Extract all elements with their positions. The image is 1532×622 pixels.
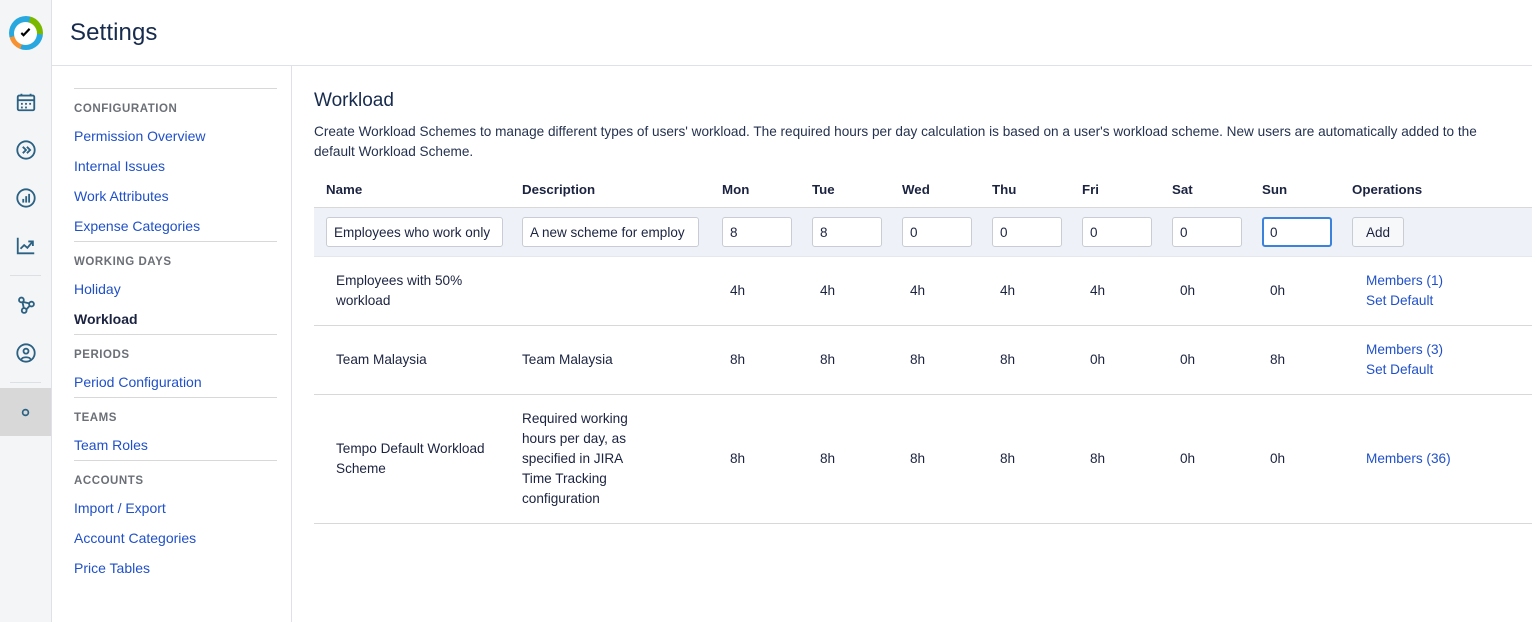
nav-section-periods: PERIODS Period Configuration <box>74 335 277 397</box>
sidebar-item-internal-issues[interactable]: Internal Issues <box>74 151 277 181</box>
cell-sun: 0h <box>1262 395 1352 524</box>
sun-hours-input[interactable] <box>1262 217 1332 247</box>
column-header-fri: Fri <box>1082 176 1172 208</box>
table-head: Name Description Mon Tue Wed Thu Fri Sat… <box>314 176 1532 208</box>
rail-item-list <box>0 66 51 436</box>
cell-name: Employees with 50% workload <box>314 257 522 326</box>
rail-divider <box>10 275 41 276</box>
cell-name: Tempo Default Workload Scheme <box>314 395 522 524</box>
cell-mon-input <box>722 208 812 257</box>
nav-heading-teams: TEAMS <box>74 398 277 430</box>
table-row: Employees with 50% workload 4h 4h 4h 4h … <box>314 257 1532 326</box>
calendar-icon <box>15 91 37 113</box>
cell-sat: 0h <box>1172 326 1262 395</box>
cell-description-input <box>522 208 722 257</box>
rail-item-settings[interactable] <box>0 388 51 436</box>
cell-thu: 4h <box>992 257 1082 326</box>
cell-wed-input <box>902 208 992 257</box>
column-header-mon: Mon <box>722 176 812 208</box>
rail-item-accounts[interactable] <box>0 329 51 377</box>
add-button[interactable]: Add <box>1352 217 1404 247</box>
nav-heading-configuration: CONFIGURATION <box>74 89 277 121</box>
rail-item-calendar[interactable] <box>0 78 51 126</box>
sidebar-item-permission-overview[interactable]: Permission Overview <box>74 121 277 151</box>
cell-fri: 0h <box>1082 326 1172 395</box>
table-row: Tempo Default Workload Scheme Required w… <box>314 395 1532 524</box>
check-icon <box>19 27 32 40</box>
cell-mon: 4h <box>722 257 812 326</box>
scheme-name: Employees with 50% workload <box>336 271 506 311</box>
cell-fri: 8h <box>1082 395 1172 524</box>
members-link[interactable]: Members (1) <box>1366 271 1532 291</box>
column-header-operations: Operations <box>1352 176 1532 208</box>
column-header-sat: Sat <box>1172 176 1262 208</box>
nav-heading-accounts: ACCOUNTS <box>74 461 277 493</box>
thu-hours-input[interactable] <box>992 217 1062 247</box>
cell-tue: 8h <box>812 395 902 524</box>
sidebar-item-account-categories[interactable]: Account Categories <box>74 523 277 553</box>
members-link[interactable]: Members (36) <box>1366 449 1532 469</box>
scheme-name: Tempo Default Workload Scheme <box>336 439 506 479</box>
table-header-row: Name Description Mon Tue Wed Thu Fri Sat… <box>314 176 1532 208</box>
sidebar-item-price-tables[interactable]: Price Tables <box>74 553 277 583</box>
cell-name-input <box>314 208 522 257</box>
column-header-wed: Wed <box>902 176 992 208</box>
icon-rail <box>0 0 52 622</box>
page-header: Settings <box>52 0 1532 66</box>
cell-thu: 8h <box>992 326 1082 395</box>
chevrons-right-circle-icon <box>15 139 37 161</box>
body-split: CONFIGURATION Permission Overview Intern… <box>52 66 1532 622</box>
settings-nav-sidebar: CONFIGURATION Permission Overview Intern… <box>52 66 292 622</box>
column-header-thu: Thu <box>992 176 1082 208</box>
cell-mon: 8h <box>722 395 812 524</box>
cell-fri-input <box>1082 208 1172 257</box>
trending-up-icon <box>15 235 37 257</box>
scheme-description: Required working hours per day, as speci… <box>522 409 642 509</box>
sat-hours-input[interactable] <box>1172 217 1242 247</box>
new-scheme-form-row: Add <box>314 208 1532 257</box>
nav-heading-working-days: WORKING DAYS <box>74 242 277 274</box>
sidebar-item-import-export[interactable]: Import / Export <box>74 493 277 523</box>
column-header-description: Description <box>522 176 722 208</box>
cell-wed: 8h <box>902 326 992 395</box>
rail-item-advance[interactable] <box>0 126 51 174</box>
set-default-link[interactable]: Set Default <box>1366 291 1532 311</box>
cell-fri: 4h <box>1082 257 1172 326</box>
tue-hours-input[interactable] <box>812 217 882 247</box>
set-default-link[interactable]: Set Default <box>1366 360 1532 380</box>
nav-heading-periods: PERIODS <box>74 335 277 367</box>
table-row: Team Malaysia Team Malaysia 8h 8h 8h 8h … <box>314 326 1532 395</box>
cell-thu-input <box>992 208 1082 257</box>
nav-section-teams: TEAMS Team Roles <box>74 398 277 460</box>
column-header-name: Name <box>314 176 522 208</box>
gear-icon <box>14 401 37 424</box>
cell-thu: 8h <box>992 395 1082 524</box>
cell-tue: 8h <box>812 326 902 395</box>
main-area: Settings CONFIGURATION Permission Overvi… <box>52 0 1532 622</box>
content-panel: Workload Create Workload Schemes to mana… <box>292 66 1532 622</box>
nav-section-accounts: ACCOUNTS Import / Export Account Categor… <box>74 461 277 583</box>
rail-item-teams[interactable] <box>0 281 51 329</box>
content-description: Create Workload Schemes to manage differ… <box>314 122 1514 162</box>
sidebar-item-work-attributes[interactable]: Work Attributes <box>74 181 277 211</box>
cell-wed: 4h <box>902 257 992 326</box>
scheme-description: Team Malaysia <box>522 350 642 370</box>
content-title: Workload <box>314 90 1532 112</box>
tempo-check-logo-icon <box>9 16 43 50</box>
network-share-icon <box>15 294 37 316</box>
logo-inner-circle <box>14 22 37 45</box>
nav-section-configuration: CONFIGURATION Permission Overview Intern… <box>74 89 277 241</box>
cell-operations: Members (3) Set Default <box>1352 326 1532 395</box>
cell-sat-input <box>1172 208 1262 257</box>
sidebar-item-team-roles[interactable]: Team Roles <box>74 430 277 460</box>
table-body: Add Employees with 50% workload 4h <box>314 208 1532 524</box>
members-link[interactable]: Members (3) <box>1366 340 1532 360</box>
chart-bars-circle-icon <box>15 187 37 209</box>
column-header-sun: Sun <box>1262 176 1352 208</box>
sidebar-item-expense-categories[interactable]: Expense Categories <box>74 211 277 241</box>
user-circle-icon <box>15 342 37 364</box>
cell-tue: 4h <box>812 257 902 326</box>
cell-sun-input <box>1262 208 1352 257</box>
wed-hours-input[interactable] <box>902 217 972 247</box>
cell-operations: Members (36) <box>1352 395 1532 524</box>
cell-description: Required working hours per day, as speci… <box>522 395 722 524</box>
sidebar-item-holiday[interactable]: Holiday <box>74 274 277 304</box>
cell-sun: 8h <box>1262 326 1352 395</box>
fri-hours-input[interactable] <box>1082 217 1152 247</box>
cell-tue-input <box>812 208 902 257</box>
rail-item-planner[interactable] <box>0 222 51 270</box>
cell-name: Team Malaysia <box>314 326 522 395</box>
cell-description <box>522 257 722 326</box>
cell-operations: Members (1) Set Default <box>1352 257 1532 326</box>
cell-sun: 0h <box>1262 257 1352 326</box>
cell-sat: 0h <box>1172 257 1262 326</box>
sidebar-item-period-configuration[interactable]: Period Configuration <box>74 367 277 397</box>
cell-add-button: Add <box>1352 208 1532 257</box>
scheme-description-input[interactable] <box>522 217 699 247</box>
nav-section-working-days: WORKING DAYS Holiday Workload <box>74 242 277 334</box>
rail-divider <box>10 382 41 383</box>
cell-mon: 8h <box>722 326 812 395</box>
page-title: Settings <box>70 19 158 47</box>
cell-description: Team Malaysia <box>522 326 722 395</box>
rail-item-reports[interactable] <box>0 174 51 222</box>
mon-hours-input[interactable] <box>722 217 792 247</box>
settings-page: Settings CONFIGURATION Permission Overvi… <box>0 0 1532 622</box>
column-header-tue: Tue <box>812 176 902 208</box>
cell-sat: 0h <box>1172 395 1262 524</box>
workload-schemes-table: Name Description Mon Tue Wed Thu Fri Sat… <box>314 176 1532 524</box>
cell-wed: 8h <box>902 395 992 524</box>
sidebar-item-workload[interactable]: Workload <box>74 304 277 334</box>
scheme-name-input[interactable] <box>326 217 503 247</box>
app-logo[interactable] <box>0 0 51 66</box>
scheme-name: Team Malaysia <box>336 350 506 370</box>
